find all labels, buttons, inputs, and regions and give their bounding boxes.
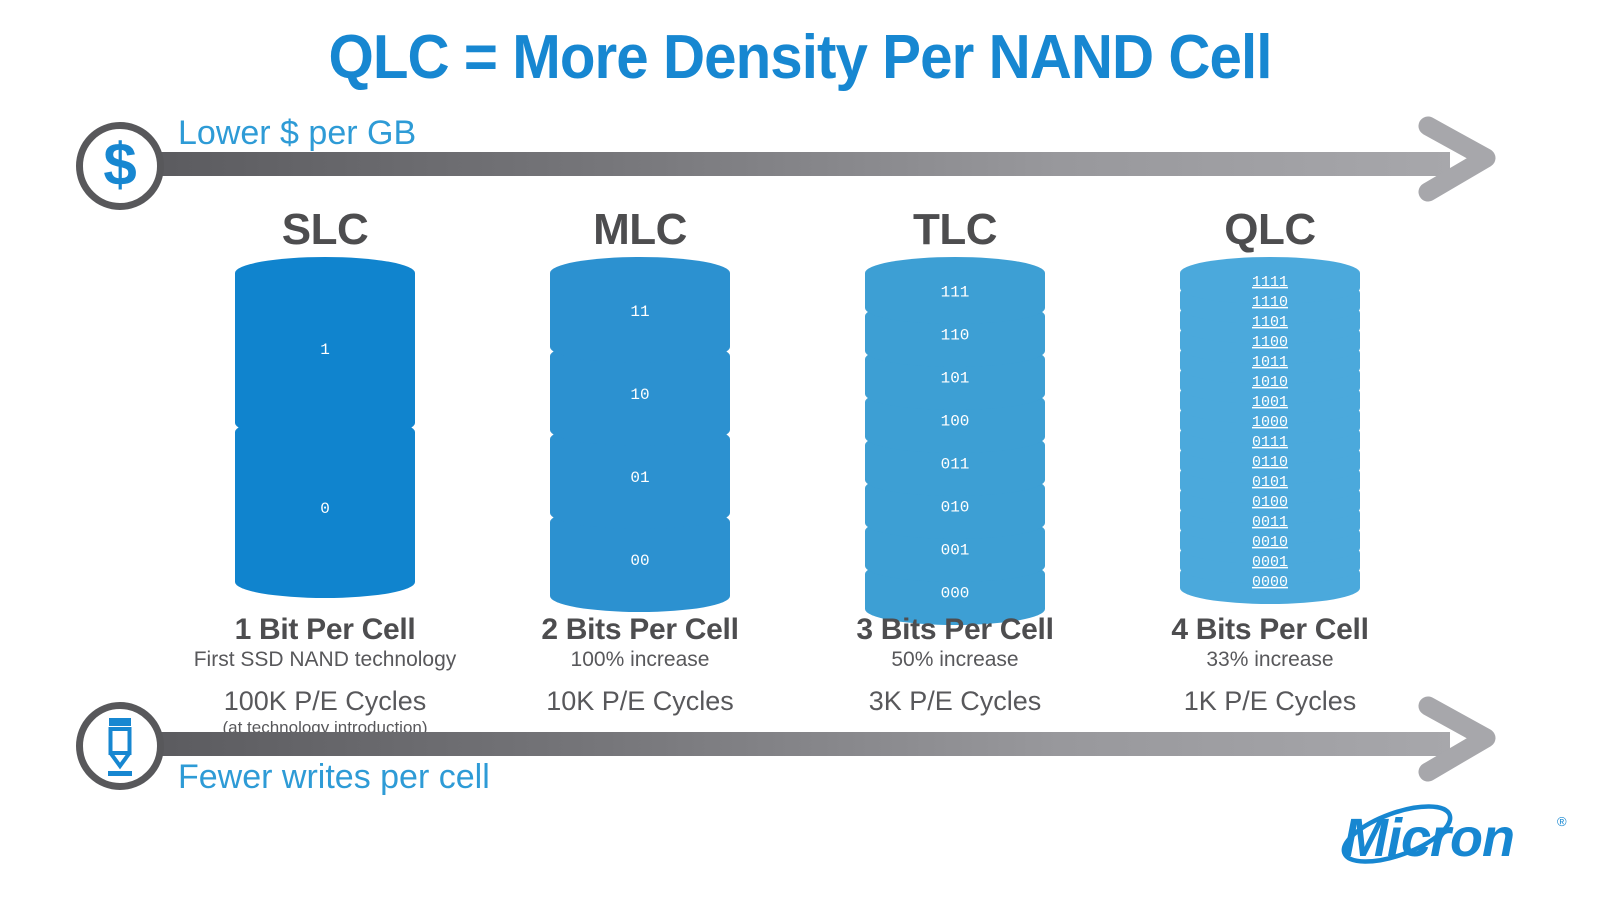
- top-arrow-bar: [150, 152, 1450, 176]
- cell-columns: SLC 10 1 Bit Per Cell First SSD NAND tec…: [0, 205, 1600, 685]
- column-qlc: QLC 111111101101110010111010100110000111…: [1110, 205, 1430, 685]
- svg-text:0011: 0011: [1252, 514, 1288, 531]
- svg-text:1011: 1011: [1252, 354, 1288, 371]
- svg-text:010: 010: [941, 498, 970, 516]
- svg-text:00: 00: [630, 552, 649, 570]
- column-label-mlc: MLC: [480, 205, 800, 255]
- svg-text:1001: 1001: [1252, 394, 1288, 411]
- pencil-icon: [83, 709, 157, 783]
- dollar-badge: $: [76, 122, 164, 210]
- svg-text:1010: 1010: [1252, 374, 1288, 391]
- svg-text:1111: 1111: [1252, 274, 1288, 291]
- stack-tlc: 111110101100011010001000: [865, 257, 1045, 645]
- svg-text:0101: 0101: [1252, 474, 1288, 491]
- svg-text:111: 111: [941, 283, 970, 301]
- bits-title-qlc: 4 Bits Per Cell: [1110, 613, 1430, 647]
- svg-text:0111: 0111: [1252, 434, 1288, 451]
- bits-sub-mlc: 100% increase: [480, 648, 800, 672]
- bits-sub-tlc: 50% increase: [795, 648, 1115, 672]
- column-label-tlc: TLC: [795, 205, 1115, 255]
- bottom-axis-row: Fewer writes per cell: [0, 700, 1600, 800]
- svg-text:1000: 1000: [1252, 414, 1288, 431]
- top-arrow-head-icon: [1418, 114, 1528, 214]
- top-axis-caption: Lower $ per GB: [178, 114, 416, 153]
- registered-mark: ®: [1557, 814, 1567, 829]
- svg-text:Micron: Micron: [1343, 808, 1514, 868]
- svg-text:11: 11: [630, 303, 649, 321]
- svg-text:1100: 1100: [1252, 334, 1288, 351]
- svg-text:1101: 1101: [1252, 314, 1288, 331]
- svg-text:0010: 0010: [1252, 534, 1288, 551]
- svg-text:0100: 0100: [1252, 494, 1288, 511]
- svg-text:1: 1: [320, 341, 330, 359]
- column-mlc: MLC 11100100 2 Bits Per Cell 100% increa…: [480, 205, 800, 685]
- micron-logo: Micron ®: [1335, 800, 1575, 872]
- svg-text:0: 0: [320, 500, 330, 518]
- svg-text:0001: 0001: [1252, 554, 1288, 571]
- svg-text:100: 100: [941, 412, 970, 430]
- svg-text:101: 101: [941, 369, 970, 387]
- bits-title-slc: 1 Bit Per Cell: [165, 613, 485, 647]
- column-label-qlc: QLC: [1110, 205, 1430, 255]
- pencil-badge: [76, 702, 164, 790]
- svg-text:1110: 1110: [1252, 294, 1288, 311]
- page-title: QLC = More Density Per NAND Cell: [48, 22, 1552, 93]
- bits-sub-slc: First SSD NAND technology: [165, 648, 485, 672]
- svg-text:110: 110: [941, 326, 970, 344]
- column-slc: SLC 10 1 Bit Per Cell First SSD NAND tec…: [165, 205, 485, 685]
- bottom-arrow-bar: [150, 732, 1450, 756]
- svg-text:0000: 0000: [1252, 574, 1288, 591]
- stack-mlc: 11100100: [550, 257, 730, 632]
- dollar-icon: $: [83, 129, 157, 203]
- column-tlc: TLC 111110101100011010001000 3 Bits Per …: [795, 205, 1115, 685]
- bottom-axis-caption: Fewer writes per cell: [178, 758, 490, 797]
- bits-title-tlc: 3 Bits Per Cell: [795, 613, 1115, 647]
- stack-qlc: 1111111011011100101110101001100001110110…: [1180, 257, 1360, 624]
- svg-text:01: 01: [630, 469, 649, 487]
- svg-text:011: 011: [941, 455, 970, 473]
- svg-text:0110: 0110: [1252, 454, 1288, 471]
- svg-text:10: 10: [630, 386, 649, 404]
- column-label-slc: SLC: [165, 205, 485, 255]
- stack-slc: 10: [235, 257, 415, 618]
- svg-text:000: 000: [941, 584, 970, 602]
- bits-title-mlc: 2 Bits Per Cell: [480, 613, 800, 647]
- bottom-arrow-head-icon: [1418, 694, 1528, 794]
- bits-sub-qlc: 33% increase: [1110, 648, 1430, 672]
- svg-text:001: 001: [941, 541, 970, 559]
